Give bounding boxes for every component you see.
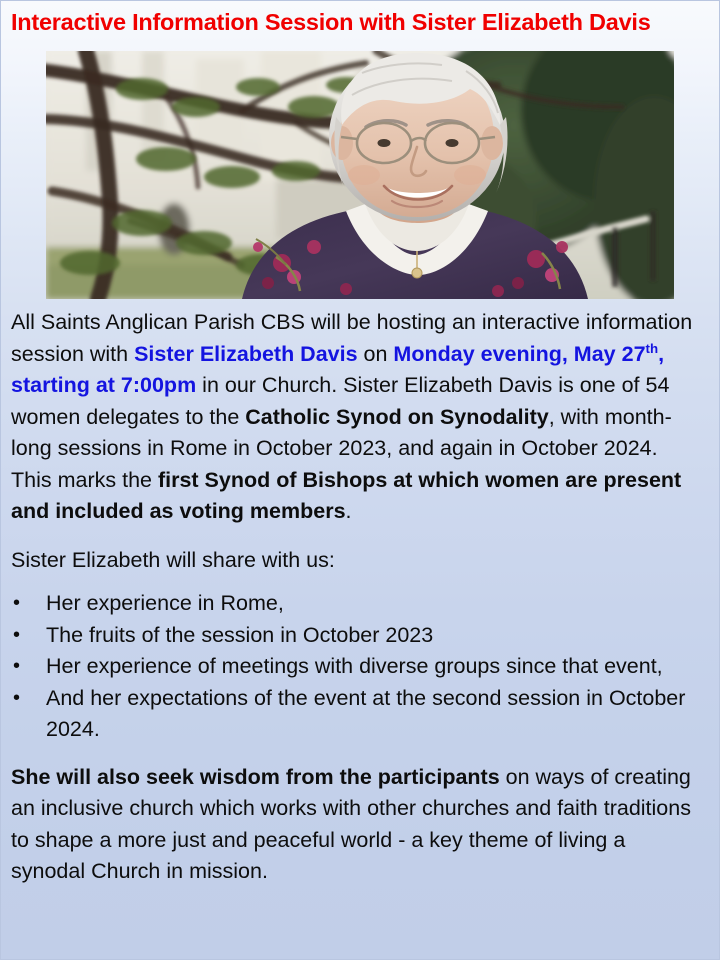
synod-name: Catholic Synod on Synodality — [245, 405, 548, 429]
closing-bold-lead: She will also seek wisdom from the parti… — [11, 765, 500, 789]
intro-seg-2: on — [358, 342, 394, 366]
bullet-icon: • — [13, 651, 20, 683]
event-date-a: Monday evening, May 27 — [393, 342, 645, 366]
poster-slide: Interactive Information Session with Sis… — [0, 0, 720, 960]
list-lead-in: Sister Elizabeth will share with us: — [1, 545, 720, 577]
list-item: •Her experience of meetings with diverse… — [1, 651, 720, 683]
event-date-ordinal: th — [646, 340, 659, 355]
bullet-icon: • — [13, 588, 20, 620]
list-item-label: Her experience in Rome, — [46, 591, 284, 615]
bullet-icon: • — [13, 683, 20, 715]
poster-body: All Saints Anglican Parish CBS will be h… — [1, 307, 720, 905]
page-title: Interactive Information Session with Sis… — [11, 7, 711, 37]
list-item-label: The fruits of the session in October 202… — [46, 623, 433, 647]
paragraph-intro: All Saints Anglican Parish CBS will be h… — [1, 307, 720, 528]
list-item: •The fruits of the session in October 20… — [1, 620, 720, 652]
topics-list: •Her experience in Rome, •The fruits of … — [1, 588, 720, 746]
paragraph-closing: She will also seek wisdom from the parti… — [1, 762, 720, 888]
list-item-label: Her experience of meetings with diverse … — [46, 654, 663, 678]
portrait-illustration — [46, 51, 674, 299]
bullet-icon: • — [13, 620, 20, 652]
list-item: •Her experience in Rome, — [1, 588, 720, 620]
speaker-name: Sister Elizabeth Davis — [134, 342, 357, 366]
intro-seg-5: . — [346, 499, 352, 523]
portrait-photo — [46, 51, 674, 299]
list-item-label: And her expectations of the event at the… — [46, 686, 685, 742]
list-item: •And her expectations of the event at th… — [1, 683, 720, 746]
